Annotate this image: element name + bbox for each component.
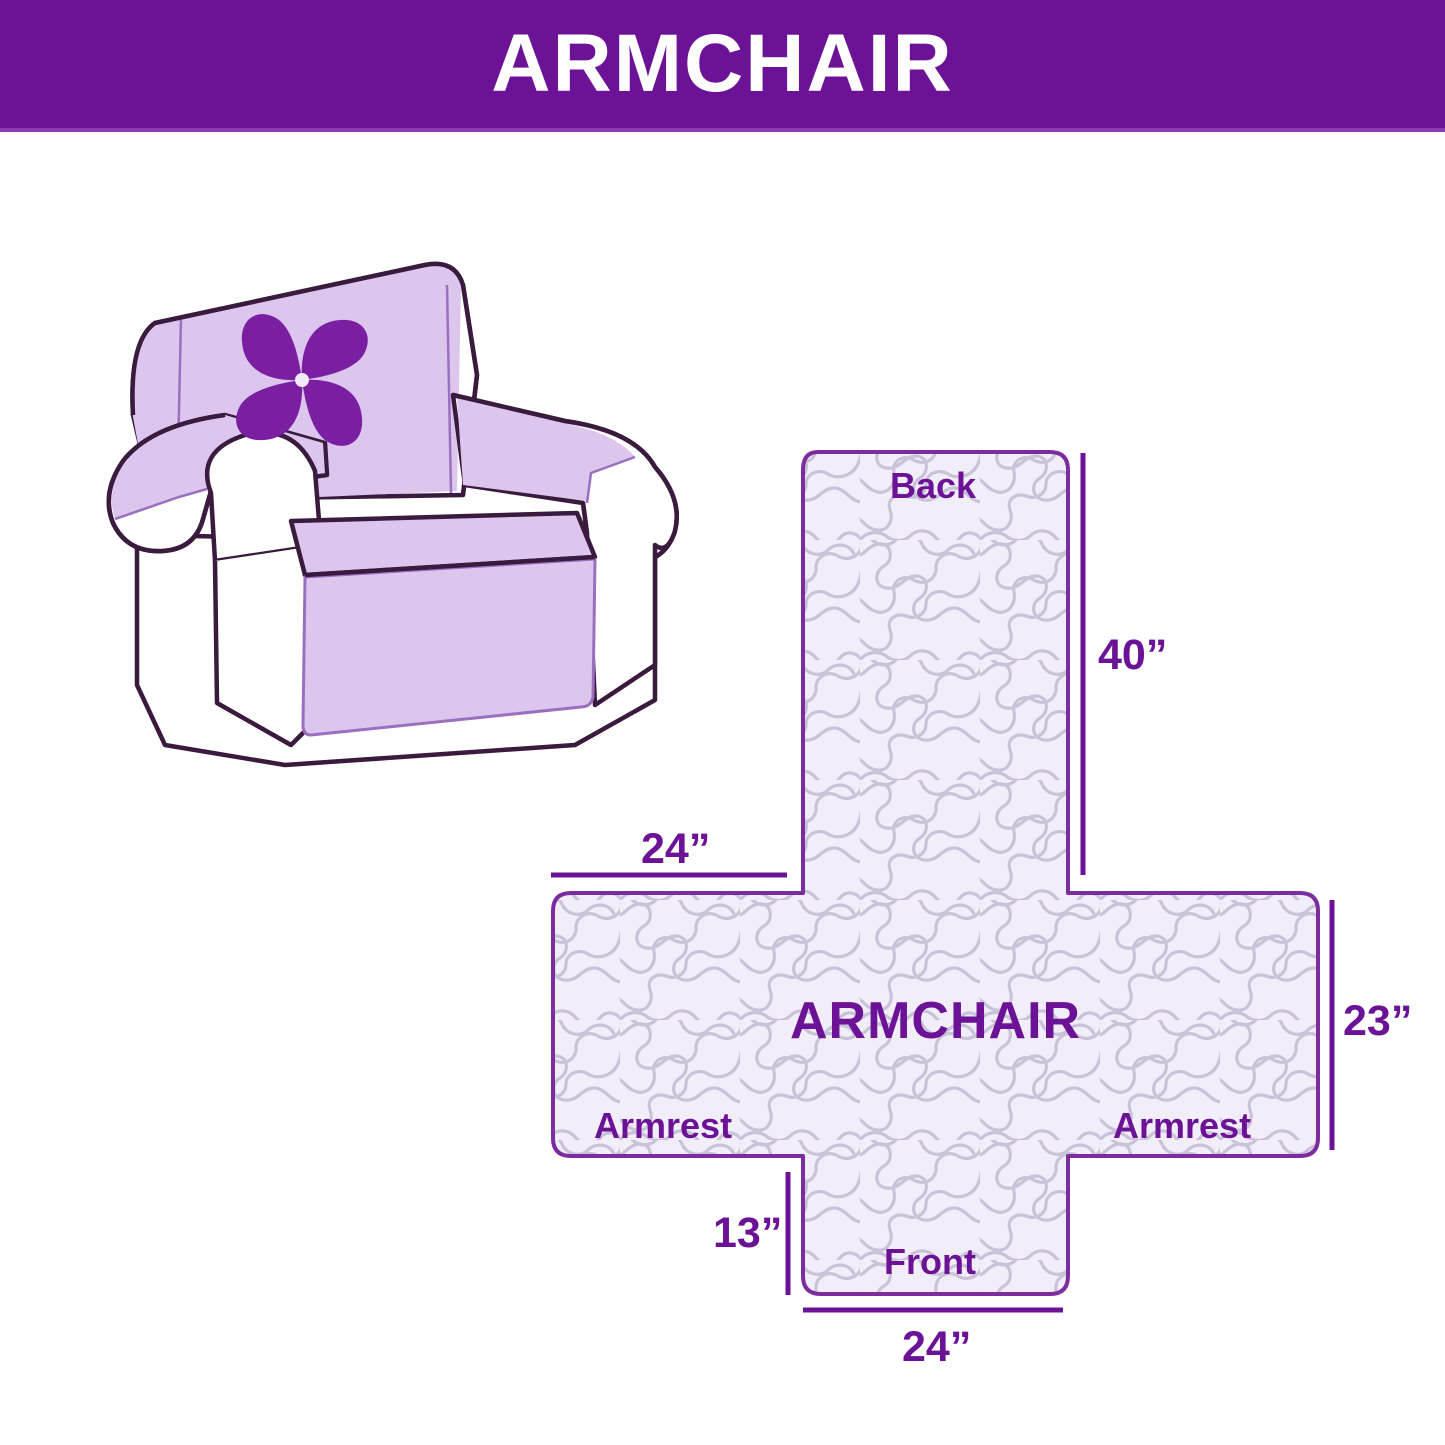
dimension-label-front-width: 24” (902, 1326, 971, 1369)
dimension-label-back-height: 40” (1098, 634, 1167, 677)
header-banner: ARMCHAIR (0, 0, 1445, 132)
dimension-label-front-height: 13” (713, 1212, 782, 1255)
banner-bottom-edge (0, 128, 1445, 132)
section-label-front: Front (884, 1244, 976, 1280)
section-label-back: Back (890, 468, 976, 504)
section-label-center: ARMCHAIR (790, 995, 1081, 1047)
product-diagram-page: ARMCHAIR (0, 0, 1445, 1445)
dimension-label-armrest-width: 24” (641, 828, 710, 871)
dimension-label-seat-depth: 23” (1343, 1000, 1412, 1043)
section-label-armrest-right: Armrest (1113, 1108, 1251, 1144)
page-title: ARMCHAIR (491, 23, 953, 105)
section-label-armrest-left: Armrest (594, 1108, 732, 1144)
